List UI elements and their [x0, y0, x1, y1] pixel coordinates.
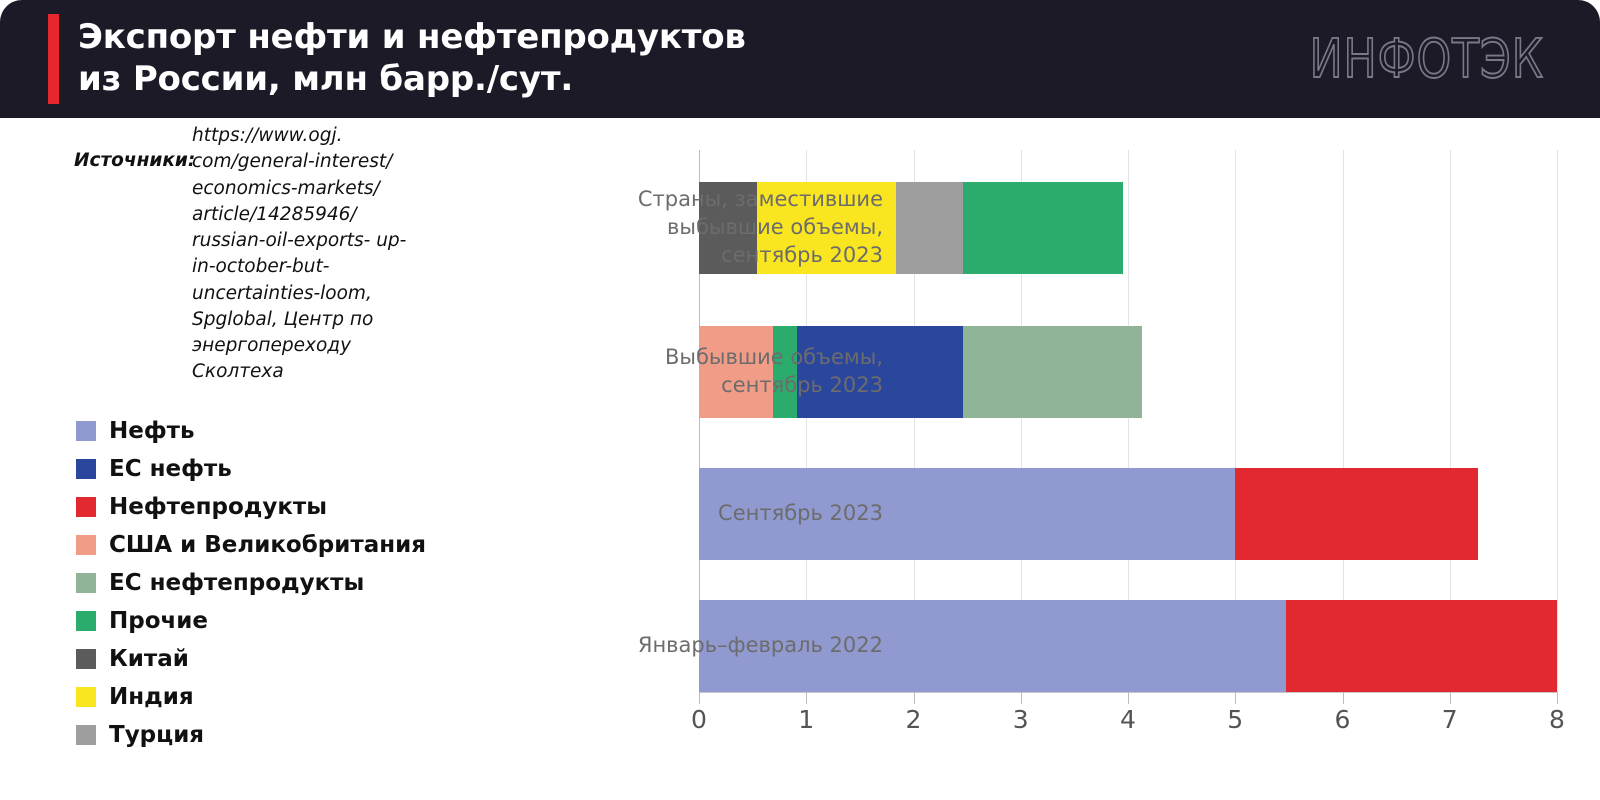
sources-block: Источники: https://www.ogj. com/general-… — [74, 148, 424, 386]
legend-swatch-icon — [76, 687, 96, 707]
x-tick-label: 3 — [1001, 705, 1041, 734]
legend-swatch-icon — [76, 497, 96, 517]
legend-item-label: США и Великобритания — [109, 532, 426, 558]
x-tick-mark — [1021, 692, 1022, 704]
legend-item: Прочие — [76, 602, 476, 640]
legend-item: ЕС нефтепродукты — [76, 564, 476, 602]
x-tick-label: 6 — [1323, 705, 1363, 734]
legend-item-label: Индия — [109, 684, 194, 710]
legend-item-label: Нефть — [109, 418, 195, 444]
category-label: Январь–февраль 2022 — [601, 632, 901, 660]
legend-swatch-icon — [76, 611, 96, 631]
legend-item: Нефтепродукты — [76, 488, 476, 526]
x-tick-mark — [914, 692, 915, 704]
x-tick-mark — [699, 692, 700, 704]
bar-segment — [963, 182, 1123, 274]
x-tick-mark — [806, 692, 807, 704]
legend-swatch-icon — [76, 725, 96, 745]
chart-page: Экспорт нефти и нефтепродуктов из России… — [0, 0, 1600, 800]
x-tick-mark — [1128, 692, 1129, 704]
legend-item: Нефть — [76, 412, 476, 450]
legend-item-label: Прочие — [109, 608, 208, 634]
legend-item: Китай — [76, 640, 476, 678]
legend-swatch-icon — [76, 573, 96, 593]
bar-segment — [963, 326, 1142, 418]
legend-item: США и Великобритания — [76, 526, 476, 564]
x-tick-mark — [1450, 692, 1451, 704]
x-tick-mark — [1343, 692, 1344, 704]
x-tick-mark — [1557, 692, 1558, 704]
gridline — [1557, 150, 1558, 692]
legend-item-label: ЕС нефтепродукты — [109, 570, 364, 596]
header-bar: Экспорт нефти и нефтепродуктов из России… — [0, 0, 1600, 118]
brand-logo: ИНФОТЭК — [1310, 28, 1544, 90]
x-tick-label: 0 — [679, 705, 719, 734]
legend-item: Турция — [76, 716, 476, 754]
legend-item: Индия — [76, 678, 476, 716]
header-accent-bar — [48, 14, 59, 104]
page-title: Экспорт нефти и нефтепродуктов из России… — [78, 16, 978, 100]
x-tick-label: 5 — [1215, 705, 1255, 734]
bar-segment — [1235, 468, 1477, 560]
category-label: Страны, заместившие выбывшие объемы, сен… — [601, 186, 901, 270]
x-tick-mark — [1235, 692, 1236, 704]
legend-item: ЕС нефть — [76, 450, 476, 488]
chart-legend: НефтьЕС нефтьНефтепродуктыСША и Великобр… — [76, 412, 476, 754]
bar-segment — [1286, 600, 1557, 692]
x-tick-label: 8 — [1537, 705, 1577, 734]
legend-swatch-icon — [76, 535, 96, 555]
legend-item-label: Китай — [109, 646, 189, 672]
category-label: Выбывшие объемы, сентябрь 2023 — [601, 344, 901, 400]
x-tick-label: 7 — [1430, 705, 1470, 734]
legend-item-label: Нефтепродукты — [109, 494, 327, 520]
bar-segment — [896, 182, 962, 274]
sources-label: Источники: — [74, 148, 195, 174]
legend-item-label: ЕС нефть — [109, 456, 232, 482]
x-tick-label: 4 — [1108, 705, 1148, 734]
category-label: Сентябрь 2023 — [601, 500, 901, 528]
legend-item-label: Турция — [109, 722, 204, 748]
legend-swatch-icon — [76, 421, 96, 441]
x-tick-label: 2 — [894, 705, 934, 734]
x-tick-label: 1 — [786, 705, 826, 734]
legend-swatch-icon — [76, 649, 96, 669]
legend-swatch-icon — [76, 459, 96, 479]
